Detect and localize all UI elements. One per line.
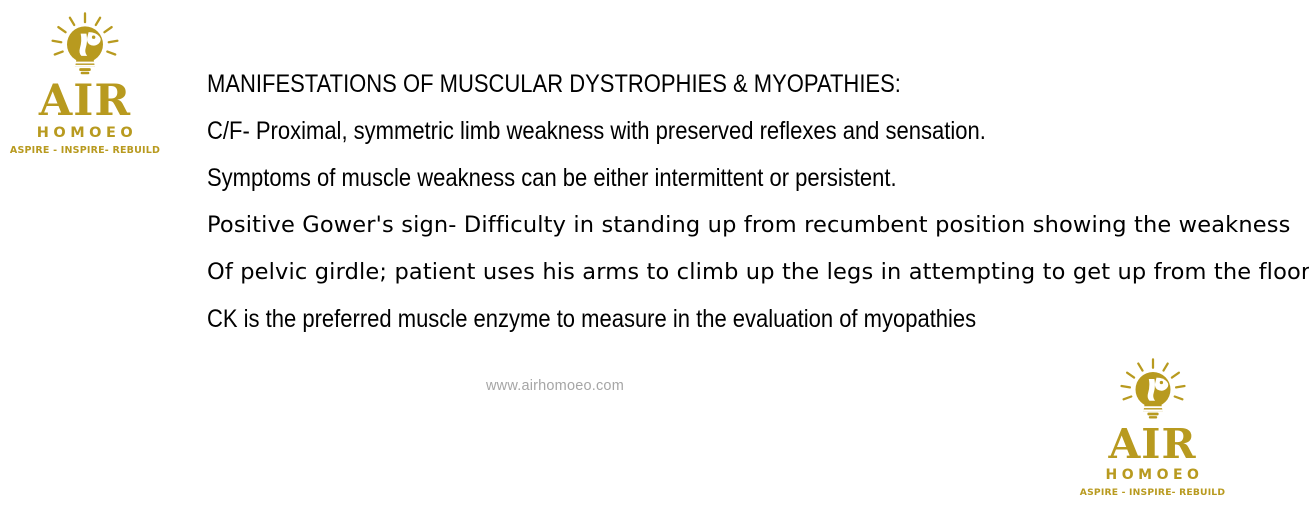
logo-wordmark: AIR [39, 82, 131, 122]
logo-tagline: ASPIRE - INSPIRE- REBUILD [1080, 487, 1225, 498]
lightbulb-with-rays-icon [1118, 358, 1188, 428]
logo-wordmark: AIR [1108, 426, 1196, 464]
brand-logo-bottom-right: AIR HOMOEO ASPIRE - INSPIRE- REBUILD [1090, 358, 1215, 498]
logo-subtitle: HOMOEO [33, 125, 137, 141]
text-line-symptoms: Symptoms of muscle weakness can be eithe… [207, 154, 1149, 201]
text-line-gowers-sign: Positive Gower's sign- Difficulty in sta… [207, 201, 1277, 248]
text-line-clinical-features: C/F- Proximal, symmetric limb weakness w… [207, 107, 1149, 154]
logo-subtitle: HOMOEO [1102, 467, 1204, 483]
text-line-ck-enzyme: CK is the preferred muscle enzyme to mea… [207, 295, 1149, 342]
slide-text-block: MANIFESTATIONS OF MUSCULAR DYSTROPHIES &… [207, 60, 1277, 342]
text-line-pelvic-girdle: Of pelvic girdle; patient uses his arms … [207, 248, 1277, 295]
text-line-title: MANIFESTATIONS OF MUSCULAR DYSTROPHIES &… [207, 60, 1149, 107]
brand-logo-top-left: AIR HOMOEO ASPIRE - INSPIRE- REBUILD [20, 12, 150, 156]
logo-tagline: ASPIRE - INSPIRE- REBUILD [10, 145, 160, 156]
lightbulb-with-rays-icon [49, 12, 121, 84]
website-watermark: www.airhomoeo.com [486, 378, 624, 394]
